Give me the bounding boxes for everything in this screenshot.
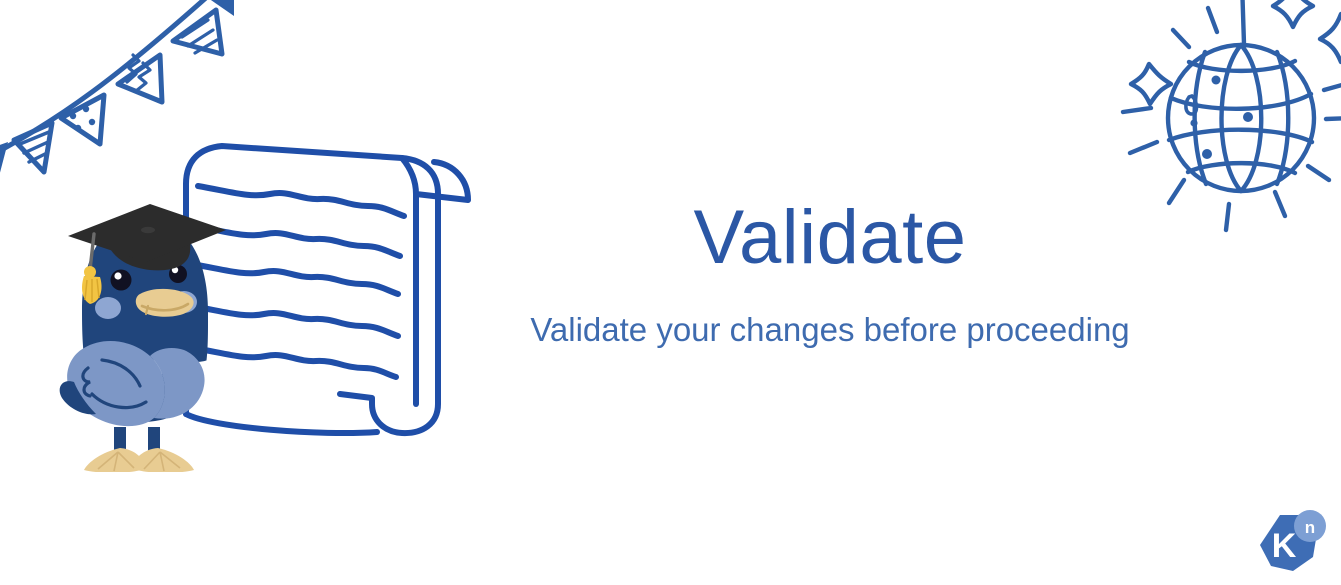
slide-canvas: Validate Validate your changes before pr…	[0, 0, 1341, 585]
page-title: Validate	[470, 200, 1190, 276]
party-bunting-icon	[0, 0, 234, 192]
kn-brand-logo[interactable]: K n	[1255, 507, 1329, 579]
logo-letter-n: n	[1305, 518, 1315, 537]
page-subtitle: Validate your changes before proceeding	[470, 310, 1190, 350]
hero-text-block: Validate Validate your changes before pr…	[470, 200, 1190, 350]
scroll-document-icon	[172, 136, 472, 466]
graduate-bird-mascot	[58, 190, 240, 472]
logo-letter-k: K	[1272, 527, 1297, 565]
